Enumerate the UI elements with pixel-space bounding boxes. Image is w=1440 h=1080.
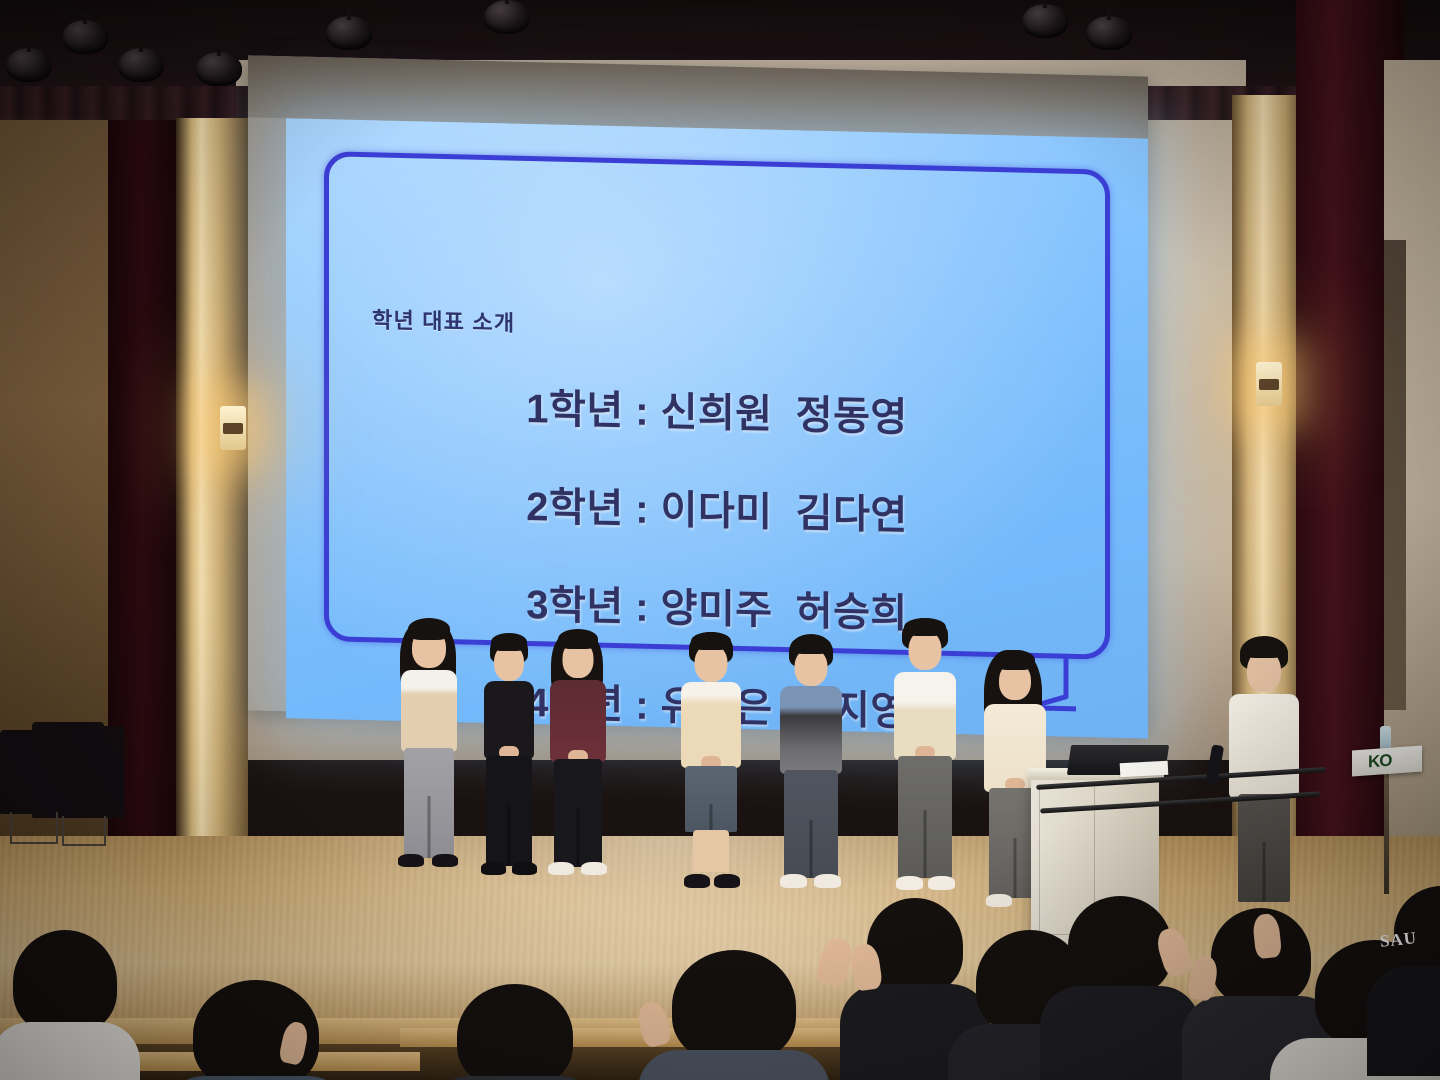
head [672,950,796,1062]
wall-sconce-right [1256,362,1282,406]
leg-gap [1014,838,1017,898]
audience-member [0,930,130,1080]
hair-top [691,632,731,650]
audience-member [176,980,336,1080]
wall-sconce-left [220,406,246,450]
hair-top [995,650,1035,670]
tshirt [1229,694,1299,798]
podium-side-sign: KO [1352,746,1422,777]
audience-member [1372,886,1440,1080]
leg-gap [710,804,713,832]
stage-light-icon [1022,4,1068,38]
stage-student-1 [392,618,466,880]
slide-line-grade-2: 2학년 : 이다미 김다연 [526,474,907,541]
audience-shirt-text: SAU [1379,928,1418,952]
shoe [780,874,807,888]
stage-light-icon [6,48,52,82]
head [13,930,117,1034]
podium-papers [1120,761,1169,777]
hair-top [408,618,450,640]
shoe [512,862,537,875]
projection-screen: 학년 대표 소개 1학년 : 신희원 정동영 2학년 : 이다미 김다연 3학년… [248,55,1148,731]
leg-gap [810,820,813,878]
body [164,1076,348,1080]
slide-title: 학년 대표 소개 [372,302,515,337]
stage-chair-legs [62,816,106,846]
head [867,898,963,994]
head [1068,896,1172,996]
body [1040,986,1200,1080]
hair-top [491,633,527,651]
stage-light-icon [62,20,108,54]
body [1367,966,1440,1076]
shoe [684,874,710,888]
auditorium-photo: 학년 대표 소개 1학년 : 신희원 정동영 2학년 : 이다미 김다연 3학년… [0,0,1440,1080]
stage-chair-legs [10,812,58,844]
head [457,984,573,1080]
sign-pole [1384,774,1389,894]
body [430,1076,600,1080]
audience-member [1050,896,1190,1080]
stage-student-5 [774,634,848,906]
shoe [714,874,740,888]
bare-legs [693,830,729,872]
shoe [398,854,424,867]
shoe [928,876,955,890]
body [638,1050,830,1080]
stage-student-2 [478,634,540,884]
stage-light-icon [118,48,164,82]
leg-gap [508,806,511,866]
hair-top [558,629,598,649]
shirt [780,686,842,774]
stage-student-4 [676,632,746,898]
stage-light-icon [326,16,372,50]
hair-top [1242,638,1286,658]
leg-gap [1263,842,1266,902]
leg-gap [577,808,580,866]
stage-light-icon [484,0,530,34]
leg-gap [428,796,431,858]
left-lit-pillar [176,118,248,858]
far-right-wall-shadow [1384,240,1406,710]
shoe [548,862,574,875]
slide-line-grade-1: 1학년 : 신희원 정동영 [526,376,907,443]
shirt [401,670,457,752]
leg-gap [924,810,927,878]
shoe [896,876,923,890]
hair-top [791,636,831,654]
stage-student-3 [544,628,612,886]
audience-member [654,950,814,1080]
shoe [581,862,607,875]
hair-top [904,618,946,636]
shoe [481,862,506,875]
stage-light-icon [1086,16,1132,50]
stage-light-icon [196,52,242,86]
shoe [814,874,841,888]
audience-member [440,984,590,1080]
face [909,630,942,670]
podium-sign-text: KO [1368,751,1392,773]
shoe [432,854,458,867]
stage-student-6 [888,618,962,906]
shoe [986,894,1012,907]
stage-chair [76,726,124,818]
body [0,1022,140,1080]
